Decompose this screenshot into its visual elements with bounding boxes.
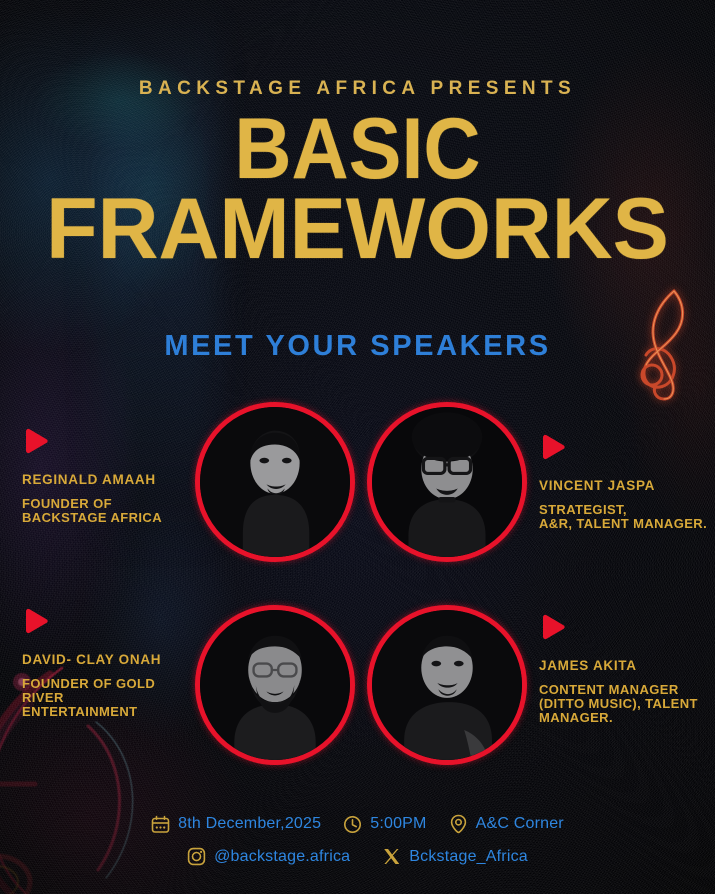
speaker-role: CONTENT MANAGER (DITTO MUSIC), TALENT MA… xyxy=(539,683,715,725)
event-poster: BACKSTAGE AFRICA PRESENTS BASIC FRAMEWOR… xyxy=(0,0,715,894)
speaker-name: REGINALD AMAAH xyxy=(22,473,207,488)
speaker-name: DAVID- CLAY ONAH xyxy=(22,653,207,668)
instagram-icon xyxy=(187,847,206,866)
subtitle: MEET YOUR SPEAKERS xyxy=(0,330,715,363)
speaker-info-reginald-amaah: REGINALD AMAAH FOUNDER OF BACKSTAGE AFRI… xyxy=(22,428,207,525)
speaker-role: STRATEGIST, A&R, TALENT MANAGER. xyxy=(539,503,715,531)
speaker-role-line: (DITTO MUSIC), TALENT xyxy=(539,697,715,711)
event-time: 5:00PM xyxy=(343,815,426,834)
speaker-role-line: FOUNDER OF GOLD xyxy=(22,677,207,691)
speaker-info-james-akita: JAMES AKITA CONTENT MANAGER (DITTO MUSIC… xyxy=(539,614,715,725)
speaker-role-line: STRATEGIST, xyxy=(539,503,715,517)
speaker-role: FOUNDER OF BACKSTAGE AFRICA xyxy=(22,497,207,525)
event-date: 8th December,2025 xyxy=(151,815,321,834)
play-triangle-icon xyxy=(22,608,207,639)
instagram-handle: @backstage.africa xyxy=(214,848,350,866)
location-pin-icon xyxy=(449,814,468,834)
speaker-photo-james-akita xyxy=(367,605,527,765)
event-time-text: 5:00PM xyxy=(370,815,426,833)
speaker-role-line: ENTERTAINMENT xyxy=(22,705,207,719)
event-details-row: 8th December,2025 5:00PM xyxy=(0,814,715,834)
speaker-photo-grid xyxy=(185,398,530,770)
x-handle: Bckstage_Africa xyxy=(409,848,528,866)
speaker-role-line: FOUNDER OF xyxy=(22,497,207,511)
speaker-photo-vincent-jaspa xyxy=(367,402,527,562)
presenter-line: BACKSTAGE AFRICA PRESENTS xyxy=(0,78,715,100)
play-triangle-icon xyxy=(22,428,207,459)
speaker-role-line: A&R, TALENT MANAGER. xyxy=(539,517,715,531)
play-triangle-icon xyxy=(539,614,715,645)
speaker-photo-david-clay-onah xyxy=(195,605,355,765)
event-date-text: 8th December,2025 xyxy=(178,815,321,833)
speaker-role-line: BACKSTAGE AFRICA xyxy=(22,511,207,525)
event-location-text: A&C Corner xyxy=(476,815,564,833)
social-instagram[interactable]: @backstage.africa xyxy=(187,847,350,866)
event-location: A&C Corner xyxy=(449,814,564,834)
title-line-1: BASIC xyxy=(29,112,687,188)
poster-footer: 8th December,2025 5:00PM xyxy=(0,814,715,866)
speaker-role-line: MANAGER. xyxy=(539,711,715,725)
speaker-photo-reginald-amaah xyxy=(195,402,355,562)
page-title: BASIC FRAMEWORKS xyxy=(0,112,715,267)
social-x-twitter[interactable]: Bckstage_Africa xyxy=(382,847,528,866)
clock-icon xyxy=(343,815,362,834)
speaker-name: JAMES AKITA xyxy=(539,659,715,674)
play-triangle-icon xyxy=(539,434,715,465)
social-links-row: @backstage.africa Bckstage_Africa xyxy=(0,847,715,866)
speaker-role-line: CONTENT MANAGER xyxy=(539,683,715,697)
calendar-icon xyxy=(151,815,170,834)
x-twitter-icon xyxy=(382,847,401,866)
speaker-role-line: RIVER xyxy=(22,691,207,705)
speaker-info-david-clay-onah: DAVID- CLAY ONAH FOUNDER OF GOLD RIVER E… xyxy=(22,608,207,719)
speaker-role: FOUNDER OF GOLD RIVER ENTERTAINMENT xyxy=(22,677,207,719)
speaker-info-vincent-jaspa: VINCENT JASPA STRATEGIST, A&R, TALENT MA… xyxy=(539,434,715,531)
title-line-2: FRAMEWORKS xyxy=(7,192,708,268)
speaker-name: VINCENT JASPA xyxy=(539,479,715,494)
